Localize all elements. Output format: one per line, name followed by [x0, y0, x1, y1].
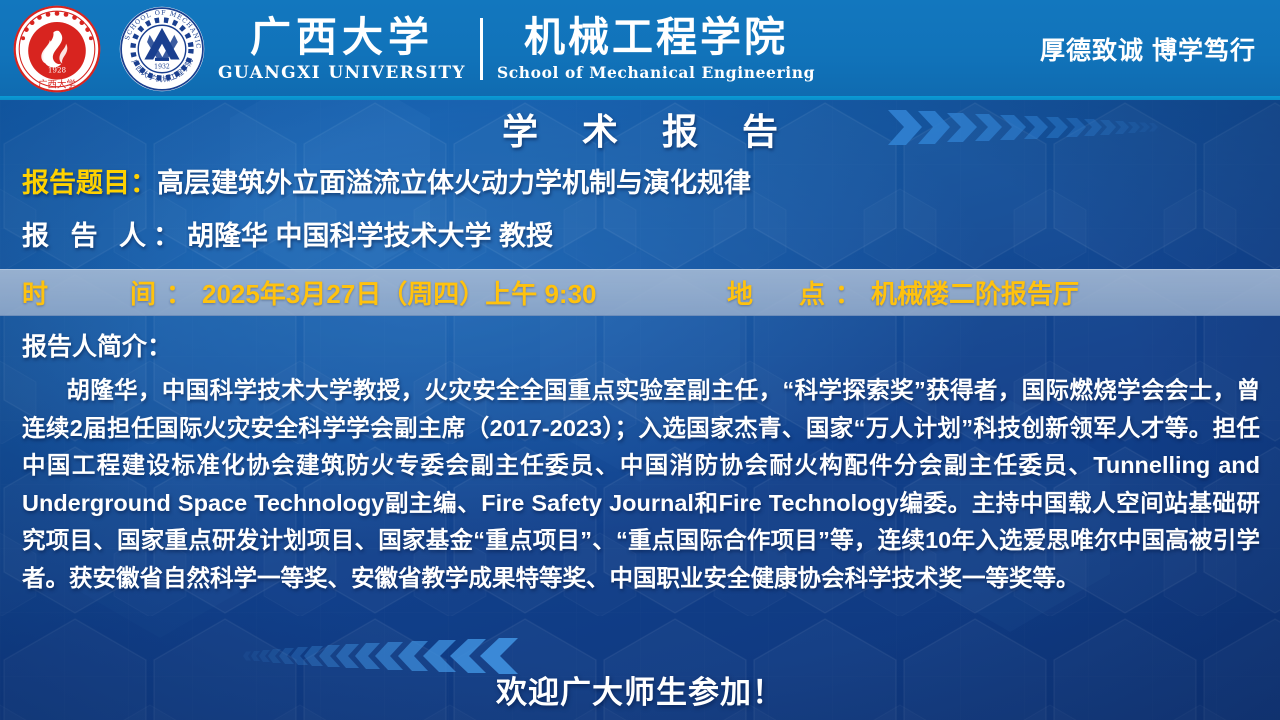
- university-name-cn: 广西大学: [250, 17, 434, 58]
- topic-value: 高层建筑外立面溢流立体火动力学机制与演化规律: [157, 168, 751, 198]
- place-label: 地 点：: [727, 279, 871, 309]
- speaker-row: 报 告 人：胡隆华 中国科学技术大学 教授: [22, 219, 553, 253]
- bio-text: 胡隆华，中国科学技术大学教授，火灾安全全国重点实验室副主任，“科学探索奖”获得者…: [22, 377, 1260, 591]
- time-label: 时 间：: [22, 279, 202, 309]
- topic-label: 报告题目：: [22, 168, 157, 198]
- place-row: 地 点：机械楼二阶报告厅: [727, 274, 1079, 311]
- wordmark-school: 机械工程学院 School of Mechanical Engineering: [497, 17, 815, 81]
- place-value: 机械楼二阶报告厅: [871, 279, 1079, 309]
- header-underline: [0, 96, 1280, 100]
- seal-year-gxu: 1928: [48, 65, 67, 74]
- page-title: 学 术 报 告: [485, 103, 795, 155]
- seal-name-gxu: 广西大学: [38, 79, 76, 91]
- school-of-mechanical-engineering-seal-icon: 1932 SCHOOL OF MECHANICAL ENGINEERING 广西…: [118, 5, 206, 93]
- time-value: 2025年3月27日（周四）上午 9:30: [202, 279, 596, 309]
- university-name-en: GUANGXI UNIVERSITY: [218, 65, 466, 82]
- wordmark: 广西大学 GUANGXI UNIVERSITY 机械工程学院 School of…: [218, 17, 815, 82]
- poster-root: 1928 广西大学 1932 SCHOOL OF MECHANICAL ENGI…: [0, 0, 1280, 720]
- speaker-label: 报 告 人：: [22, 221, 187, 251]
- title-banner: 学 术 报 告: [0, 100, 1280, 157]
- bio-heading: 报告人简介：: [22, 327, 172, 363]
- guangxi-university-seal-icon: 1928 广西大学: [10, 4, 104, 94]
- speaker-value: 胡隆华 中国科学技术大学 教授: [187, 221, 553, 251]
- bio-paragraph: 胡隆华，中国科学技术大学教授，火灾安全全国重点实验室副主任，“科学探索奖”获得者…: [22, 372, 1260, 597]
- wordmark-divider: [480, 18, 483, 80]
- wordmark-university: 广西大学 GUANGXI UNIVERSITY: [218, 17, 466, 82]
- school-name-en: School of Mechanical Engineering: [497, 65, 815, 81]
- welcome-note: 欢迎广大师生参加！: [0, 667, 1280, 712]
- topic-row: 报告题目：高层建筑外立面溢流立体火动力学机制与演化规律: [22, 166, 751, 200]
- time-row: 时 间：2025年3月27日（周四）上午 9:30: [22, 274, 597, 311]
- university-motto: 厚德致诚 博学笃行: [1040, 31, 1262, 67]
- header-bar: 1928 广西大学 1932 SCHOOL OF MECHANICAL ENGI…: [0, 0, 1280, 98]
- school-name-cn: 机械工程学院: [524, 17, 788, 58]
- time-place-bar: 时 间：2025年3月27日（周四）上午 9:30 地 点：机械楼二阶报告厅: [0, 269, 1280, 316]
- seal-year-sme: 1932: [154, 63, 170, 70]
